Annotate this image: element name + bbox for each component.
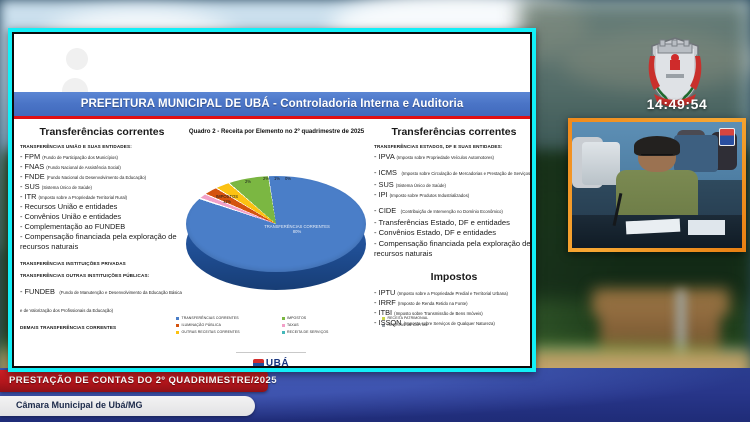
lower-third-subtitle: Câmara Municipal de Ubá/MG (16, 400, 143, 410)
glasses-icon (641, 154, 674, 162)
legend-label: IMPOSTOS (287, 316, 306, 320)
left-column: Transferências correntes TRANSFERÊNCIAS … (20, 126, 184, 333)
list-item: - ISSQN (Imposto sobre Serviços de Qualq… (374, 318, 530, 327)
legend-swatch-icon (176, 324, 179, 327)
uba-crest-icon (253, 359, 264, 367)
list-item: - IRRF (Imposto de Renda Retido na Fonte… (374, 298, 530, 307)
list-item: - IPI (Imposto sobre Produtos Industrial… (374, 190, 530, 199)
legend-swatch-icon (282, 324, 285, 327)
item-note: (Imposto sobre a Propriedade Territorial… (38, 195, 127, 200)
item-note: (Fundo Nacional de Assistência Social) (46, 165, 121, 170)
plain-item: - Compensação financiada pela exploração… (374, 239, 530, 260)
list-item: - IPTU (Imposto sobre a Propriedade Pred… (374, 288, 530, 297)
list-item: - SUS (Sistema Único de Saúde) (374, 180, 530, 189)
item-code: - CIDE (374, 206, 396, 215)
left-column-title: Transferências correntes (20, 126, 184, 138)
legend-label: TAXAS (287, 323, 299, 327)
slide-header-title: PREFEITURA MUNICIPAL DE UBÁ - Controlado… (81, 98, 464, 110)
watermark-circle (66, 48, 88, 70)
right-column-title: Transferências correntes (374, 126, 530, 138)
list-item: - ITR (Imposto sobre a Propriedade Terri… (20, 192, 184, 201)
left-section-heading-3: TRANSFERÊNCIAS OUTRAS INSTITUIÇÕES PÚBLI… (20, 273, 184, 278)
list-item: - CIDE (Contribuição de Intervenção no D… (374, 200, 530, 218)
video-papers (688, 220, 725, 235)
lower-third-title-bar: PRESTAÇÃO DE CONTAS DO 2º QUADRIMESTRE/2… (0, 370, 268, 392)
video-inset-frame[interactable] (568, 118, 746, 252)
legend-label: ILUMINAÇÃO PÚBLICA (182, 323, 222, 327)
left-footer-note: DEMAIS TRANSFERÊNCIAS CORRENTES (20, 325, 184, 330)
taxes-list: - IPTU (Imposto sobre a Propriedade Pred… (374, 288, 530, 327)
video-chair (582, 142, 619, 185)
chart-area: Quadro 2 - Receita por Elemento no 2º qu… (174, 128, 379, 137)
item-note: (Imposto sobre Produtos Industrializados… (390, 193, 470, 198)
list-item: - Convênios União e entidades (20, 212, 184, 221)
video-feed[interactable] (572, 122, 742, 248)
item-note: (Sistema Único de Saúde) (396, 183, 446, 188)
right-column: Transferências correntes TRANSFERÊNCIAS … (374, 126, 530, 328)
pie-slice-label: 0% (280, 176, 296, 181)
pie-slice-label: TRANSFERÊNCIAS CORRENTES 80% (252, 224, 342, 235)
list-item: - FNAS (Fundo Nacional de Assistência So… (20, 162, 184, 171)
legend-label: TRANSFERÊNCIAS CORRENTES (182, 316, 239, 320)
taxes-title: Impostos (374, 271, 530, 283)
pie-slice-label: IMPOSTOS 11% (202, 194, 252, 205)
item-code: - SUS (374, 180, 394, 189)
legend-swatch-icon (176, 331, 179, 334)
item-code: - ISSQN (374, 318, 402, 327)
item-code: - ITBI (374, 308, 392, 317)
list-item: - Recursos União e entidades (20, 202, 184, 211)
plain-item: - Transferências Estado, DF e entidades (374, 218, 530, 228)
fundeb-item: - FUNDEB (Fundo de Manutenção e Desenvol… (20, 281, 184, 317)
legend-item: TRANSFERÊNCIAS CORRENTES (176, 316, 276, 320)
item-note: (Fundo de Participação dos Municípios) (42, 155, 118, 160)
list-item: - IPVA (Imposto sobre Propriedade Veícul… (374, 152, 530, 161)
chart-legend: TRANSFERÊNCIAS CORRENTES IMPOSTOS ILUMIN… (176, 316, 381, 334)
clock-display: 14:49:54 (635, 96, 719, 112)
list-item-wrapped: - Compensação financiada pela exploração… (20, 232, 184, 253)
legend-label: RECEITA DE SERVIÇOS (287, 330, 328, 334)
item-code: - IPTU (374, 288, 395, 297)
plain-item: - Convênios Estado, DF e entidades (374, 228, 530, 238)
item-code: - SUS (20, 182, 40, 191)
item-note: (Contribuição de Intervenção no Domínio … (401, 209, 503, 214)
item-note: (Imposto de Renda Retido na Fonte) (398, 301, 468, 306)
legend-item: OUTRAS RECEITAS CORRENTES (176, 330, 276, 334)
list-item: - FNDE (Fundo Nacional do Desenvolviment… (20, 172, 184, 181)
item-code: - IPI (374, 190, 388, 199)
presentation-slide-frame: PREFEITURA MUNICIPAL DE UBÁ - Controlado… (8, 28, 536, 372)
legend-swatch-icon (282, 331, 285, 334)
legend-swatch-icon (282, 317, 285, 320)
item-note: (Imposto sobre Propriedade Veículos Auto… (396, 155, 493, 160)
item-code: - FNAS (20, 162, 44, 171)
legend-item: ILUMINAÇÃO PÚBLICA (176, 323, 276, 327)
item-code: - ITR (20, 192, 36, 201)
item-code: - IPVA (374, 152, 394, 161)
item-note: (Imposto sobre Circulação de Mercadorias… (401, 171, 530, 176)
slide-header-band: PREFEITURA MUNICIPAL DE UBÁ - Controlado… (14, 92, 530, 119)
presentation-slide: PREFEITURA MUNICIPAL DE UBÁ - Controlado… (14, 34, 530, 366)
item-code: - IRRF (374, 298, 396, 307)
right-section-heading: TRANSFERÊNCIAS ESTADOS, DF E SUAS ENTIDA… (374, 144, 530, 149)
list-item: - ICMS (Imposto sobre Circulação de Merc… (374, 162, 530, 180)
item-note: (Imposto sobre a Propriedade Predial e T… (397, 291, 508, 296)
uba-logo: UBÁ (236, 352, 306, 366)
uba-wordmark: UBÁ (266, 358, 289, 367)
legend-item: TAXAS (282, 323, 382, 327)
legend-item: RECEITA DE SERVIÇOS (282, 330, 382, 334)
item-note: (Imposto sobre Serviços de Qualquer Natu… (404, 321, 495, 326)
pie-slice-label: 2% (240, 179, 256, 184)
video-speaker-hair (634, 136, 680, 156)
legend-item: IMPOSTOS (282, 316, 382, 320)
list-item: - Complementação ao FUNDEB (20, 222, 184, 231)
legend-label: OUTRAS RECEITAS CORRENTES (182, 330, 240, 334)
left-section-heading: TRANSFERÊNCIAS UNIÃO E SUAS ENTIDADES: (20, 144, 184, 149)
list-item: - ITBI (Imposto sobre Transmissão de Ben… (374, 308, 530, 317)
item-code: - FPM (20, 152, 40, 161)
legend-swatch-icon (176, 317, 179, 320)
item-note: (Fundo Nacional do Desenvolvimento da Ed… (47, 175, 146, 180)
item-code: - FNDE (20, 172, 45, 181)
item-code: - ICMS (374, 168, 397, 177)
item-code: - FUNDEB (20, 287, 55, 296)
list-item: - FPM (Fundo de Participação dos Municíp… (20, 152, 184, 161)
list-item: - SUS (Sistema Único de Saúde) (20, 182, 184, 191)
chart-title: Quadro 2 - Receita por Elemento no 2º qu… (174, 128, 379, 135)
channel-logo-icon (719, 128, 735, 146)
pie-chart: TRANSFERÊNCIAS CORRENTES 80% IMPOSTOS 11… (174, 142, 379, 292)
item-note: (Imposto sobre Transmissão de Bens Imóve… (394, 311, 483, 316)
lower-third-subtitle-pill: Câmara Municipal de Ubá/MG (0, 396, 255, 416)
lower-third-title: PRESTAÇÃO DE CONTAS DO 2º QUADRIMESTRE/2… (9, 375, 277, 386)
item-note: (Sistema Único de Saúde) (42, 185, 92, 190)
left-section-heading-2: TRANSFERÊNCIAS INSTITUIÇÕES PRIVADAS (20, 261, 184, 266)
